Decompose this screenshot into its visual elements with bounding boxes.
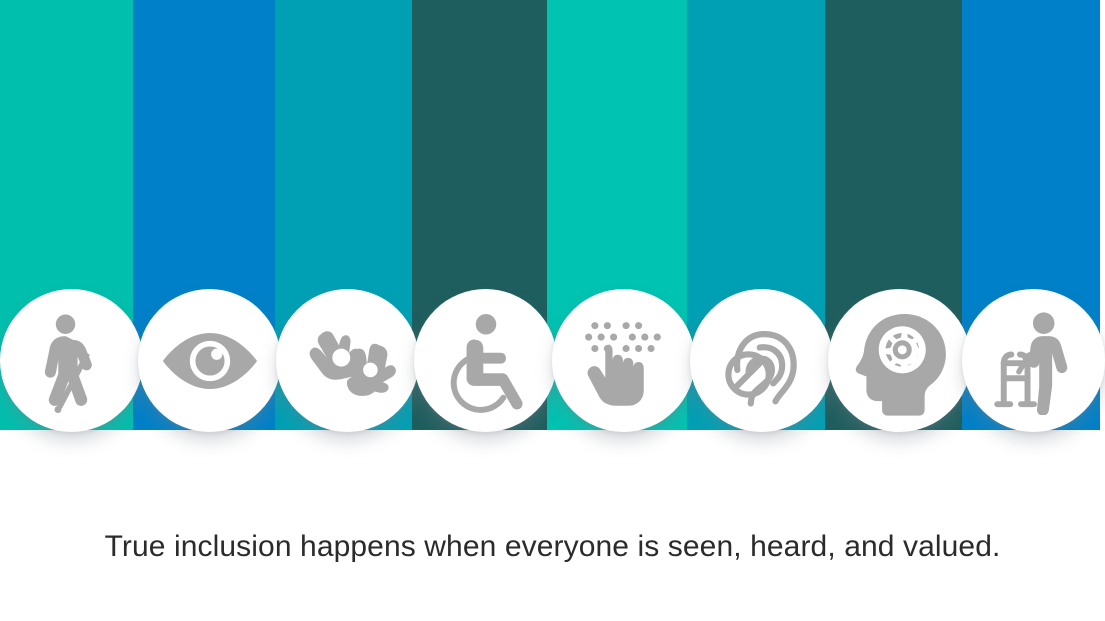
sign-language-icon xyxy=(292,305,404,417)
wheelchair-icon xyxy=(432,307,540,415)
blind-cane-icon-badge xyxy=(0,289,143,432)
braille-touch-icon xyxy=(572,309,676,413)
eye-icon-badge xyxy=(138,289,281,432)
braille-touch-icon-badge xyxy=(552,289,695,432)
cognitive-head-icon-badge xyxy=(828,289,971,432)
caption-text: True inclusion happens when everyone is … xyxy=(0,530,1105,564)
slide-canvas: True inclusion happens when everyone is … xyxy=(0,0,1105,621)
eye-icon xyxy=(154,305,266,417)
deaf-ear-icon xyxy=(706,305,818,417)
accessibility-icon-row xyxy=(0,289,1105,469)
deaf-ear-icon-badge xyxy=(690,289,833,432)
cognitive-head-icon xyxy=(844,305,956,417)
elderly-walker-icon-badge xyxy=(962,289,1105,432)
wheelchair-icon-badge xyxy=(414,289,557,432)
elderly-walker-icon xyxy=(980,307,1088,415)
blind-cane-icon xyxy=(18,307,126,415)
sign-language-icon-badge xyxy=(276,289,419,432)
